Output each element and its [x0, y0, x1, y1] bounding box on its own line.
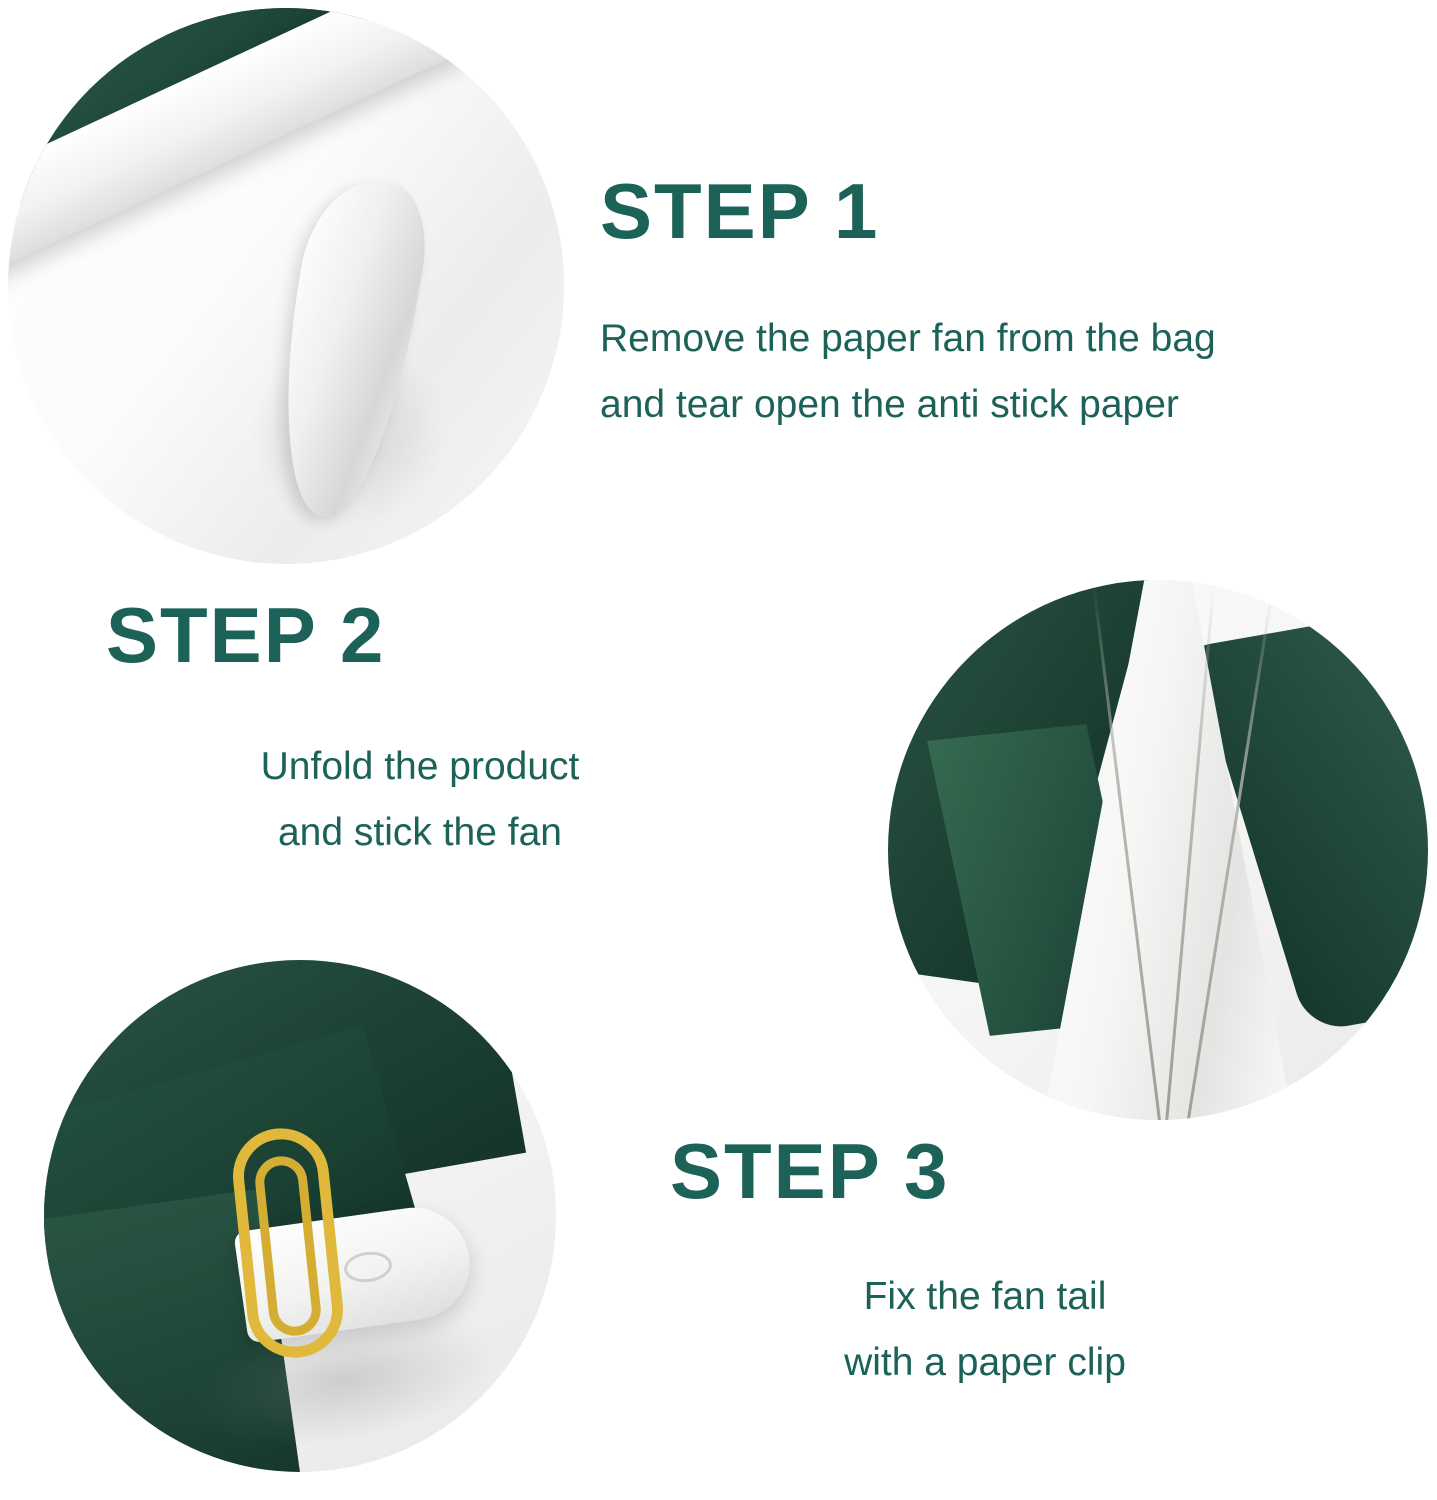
- step-2-line-1: Unfold the product: [100, 734, 740, 800]
- step-3-title: STEP 3: [670, 1132, 1310, 1210]
- step-3-line-1: Fix the fan tail: [660, 1264, 1310, 1330]
- step-3-text-block: STEP 3 Fix the fan tail with a paper cli…: [660, 1132, 1310, 1395]
- step-2-title: STEP 2: [106, 596, 740, 674]
- instruction-diagram: STEP 1 Remove the paper fan from the bag…: [0, 0, 1437, 1500]
- step-1-text-block: STEP 1 Remove the paper fan from the bag…: [600, 172, 1216, 437]
- photo-step2-unfolded-paper-fan: [888, 580, 1428, 1120]
- step-1-line-2: and tear open the anti stick paper: [600, 372, 1216, 438]
- step-1-title: STEP 1: [600, 172, 1216, 250]
- photo-step1-peeling-anti-stick-paper: [8, 8, 564, 564]
- step-1-line-1: Remove the paper fan from the bag: [600, 306, 1216, 372]
- photo-step3-paper-clip-on-fan-tail: [44, 960, 556, 1472]
- step-2-text-block: STEP 2 Unfold the product and stick the …: [100, 596, 740, 865]
- step-3-line-2: with a paper clip: [660, 1330, 1310, 1396]
- step-2-line-2: and stick the fan: [100, 800, 740, 866]
